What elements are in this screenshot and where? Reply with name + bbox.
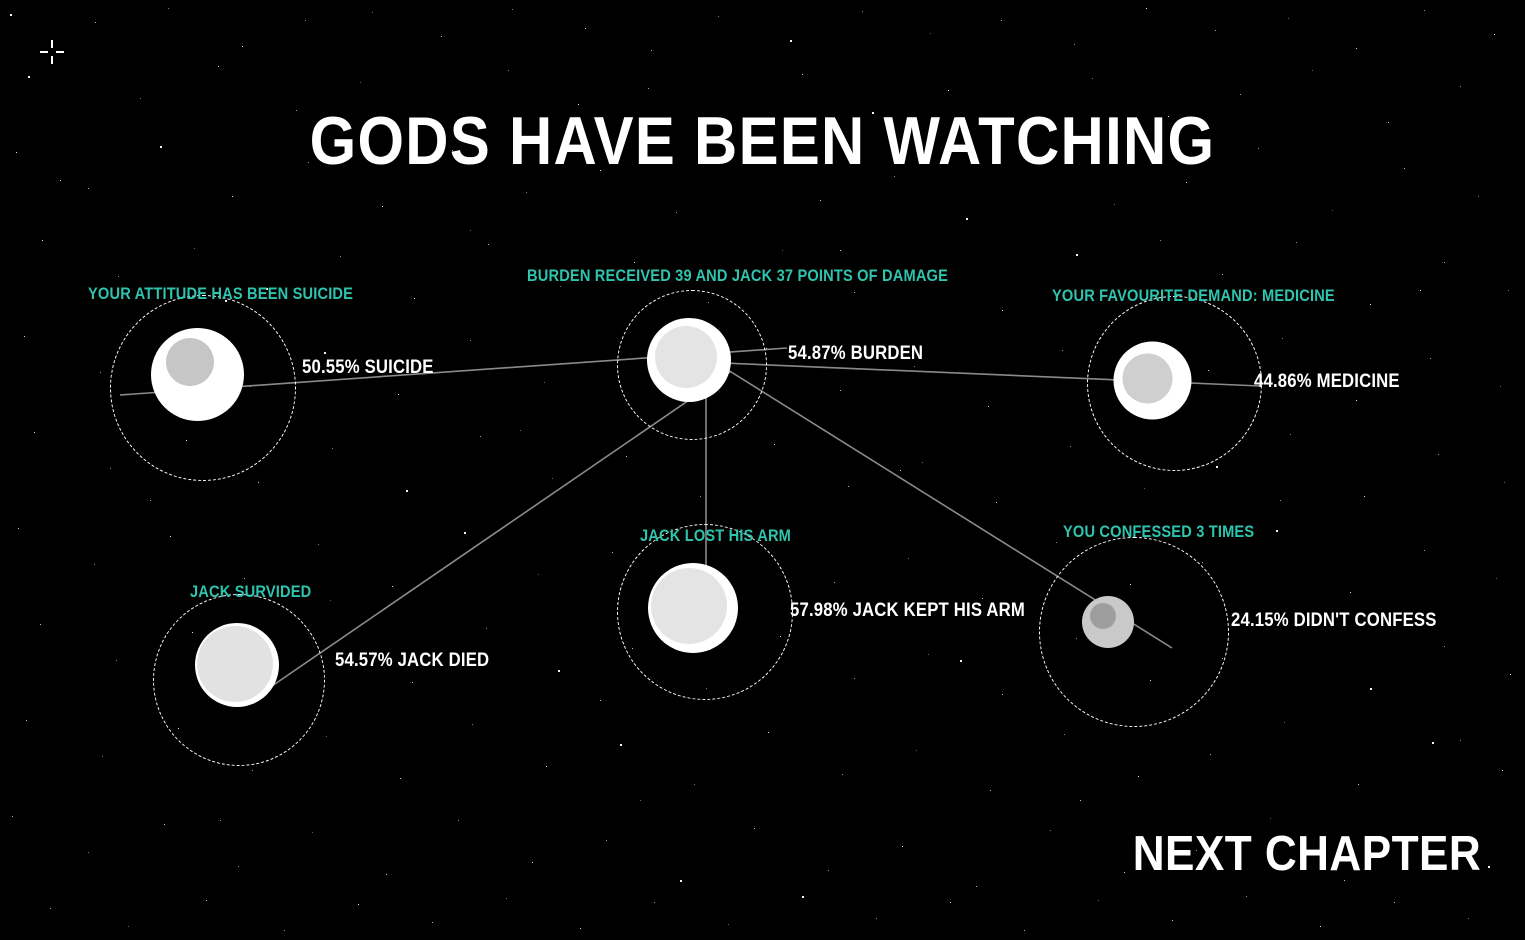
star (848, 486, 849, 487)
star (488, 244, 489, 245)
star (1276, 530, 1278, 532)
star (996, 502, 997, 503)
star (1312, 70, 1313, 71)
star (1508, 290, 1509, 291)
planet-core-jack-arm (651, 568, 727, 644)
node-stat-burden: 54.87% BURDEN (788, 343, 923, 365)
star (676, 212, 677, 213)
star (718, 16, 719, 17)
star (1460, 740, 1461, 741)
star (1370, 688, 1372, 690)
node-title-jack-survived: JACK SURVIDED (190, 582, 311, 602)
star (128, 926, 129, 927)
star (94, 564, 95, 565)
star (834, 582, 835, 583)
star (392, 586, 393, 587)
star (140, 98, 141, 99)
star (1288, 18, 1289, 19)
star (768, 732, 769, 733)
planet-core-medicine (1122, 353, 1172, 403)
star (472, 724, 473, 725)
star (560, 286, 561, 287)
star (914, 366, 915, 367)
star (990, 790, 991, 791)
star (1424, 10, 1425, 11)
node-stat-jack-arm: 57.98% JACK KEPT HIS ARM (790, 600, 1025, 622)
star (102, 756, 103, 757)
star (118, 276, 119, 277)
planet-body-suicide (151, 328, 244, 421)
star (828, 870, 829, 871)
star (1280, 500, 1281, 501)
star (842, 774, 843, 775)
star (1496, 578, 1497, 579)
star (312, 832, 313, 833)
node-stat-medicine: 44.86% MEDICINE (1254, 371, 1400, 393)
star (1270, 818, 1271, 819)
star (966, 218, 968, 220)
star (1364, 496, 1365, 497)
star (1160, 240, 1161, 241)
star (1468, 918, 1469, 919)
node-stat-suicide: 50.55% SUICIDE (302, 357, 434, 379)
star (1064, 734, 1065, 735)
star (1444, 262, 1445, 263)
node-title-medicine: YOUR FAVOURITE DEMAND: MEDICINE (1052, 286, 1335, 306)
star (1186, 182, 1187, 183)
star (406, 490, 408, 492)
star (100, 372, 101, 373)
star (948, 90, 949, 91)
star (546, 766, 547, 767)
star (360, 82, 361, 83)
star (458, 820, 459, 821)
crosshair-bottom-tick (51, 56, 53, 64)
star (206, 900, 207, 901)
star (902, 846, 903, 847)
star (1356, 48, 1357, 49)
star (1080, 800, 1081, 801)
star (774, 444, 775, 445)
star (24, 336, 25, 337)
star (400, 778, 401, 779)
planet-body-burden (647, 318, 731, 402)
crosshair-left-tick (40, 51, 48, 53)
planet-core-confess (1090, 603, 1116, 629)
star (1124, 872, 1125, 873)
star (1076, 254, 1078, 256)
star (1444, 646, 1445, 647)
star (520, 430, 521, 431)
orbit-ring-confess (1039, 537, 1229, 727)
planet-body-jack-arm (648, 563, 738, 653)
node-stat-confess: 24.15% DIDN'T CONFESS (1231, 610, 1437, 632)
star (1240, 94, 1241, 95)
star (1502, 770, 1503, 771)
crosshair-right-tick (56, 51, 64, 53)
star (930, 33, 931, 34)
page-title: GODS HAVE BEEN WATCHING (92, 104, 1434, 178)
planet-node-confess[interactable] (1039, 537, 1229, 727)
planet-body-medicine (1113, 341, 1191, 419)
planet-node-burden[interactable] (617, 290, 767, 440)
star (916, 750, 917, 751)
star (305, 20, 306, 21)
star (840, 250, 841, 251)
star (1438, 454, 1439, 455)
star (1460, 86, 1461, 87)
star (654, 902, 655, 903)
star (284, 930, 285, 931)
star (600, 700, 601, 701)
star (900, 470, 901, 471)
star (982, 598, 983, 599)
planet-node-medicine[interactable] (1087, 296, 1262, 471)
star (170, 536, 171, 537)
star (612, 552, 613, 553)
star (648, 88, 649, 89)
star (1500, 386, 1501, 387)
star (1246, 896, 1247, 897)
star (340, 256, 341, 257)
star (634, 262, 635, 263)
planet-node-jack-arm[interactable] (617, 524, 793, 700)
star (1146, 8, 1147, 9)
star (244, 578, 245, 579)
star (606, 840, 607, 841)
planet-node-suicide[interactable] (110, 295, 296, 481)
star (470, 340, 471, 341)
star (50, 908, 51, 909)
planet-node-jack-survived[interactable] (153, 594, 325, 766)
star (238, 866, 239, 867)
star (754, 828, 755, 829)
star (840, 390, 841, 391)
star (12, 816, 13, 817)
star (338, 640, 339, 641)
star (332, 448, 333, 449)
star (60, 180, 61, 181)
star (1002, 694, 1003, 695)
star (854, 678, 855, 679)
star (1282, 338, 1283, 339)
star (558, 670, 560, 672)
star (26, 720, 27, 721)
star (1098, 900, 1099, 901)
star (1070, 446, 1071, 447)
star (960, 660, 962, 662)
star (95, 22, 96, 23)
star (470, 230, 471, 231)
star (1074, 44, 1075, 45)
star (544, 382, 545, 383)
star (326, 736, 327, 737)
star (16, 152, 17, 153)
star (330, 600, 331, 601)
star (412, 682, 413, 683)
star (1494, 34, 1495, 35)
planet-core-suicide (166, 338, 214, 386)
star (1062, 350, 1063, 351)
star (802, 74, 803, 75)
star (88, 852, 89, 853)
star (538, 574, 539, 575)
star (526, 192, 527, 193)
star (680, 880, 682, 882)
star (1350, 592, 1351, 593)
star (1114, 204, 1115, 205)
star (164, 824, 165, 825)
star (1092, 78, 1093, 79)
star (1358, 784, 1359, 785)
star (908, 558, 909, 559)
star (820, 200, 821, 201)
crosshair-top-tick (51, 40, 53, 48)
star (1356, 400, 1357, 401)
star (1001, 20, 1002, 21)
star (18, 528, 19, 529)
star (950, 902, 951, 903)
star (1420, 290, 1421, 291)
star (1172, 920, 1173, 921)
node-title-suicide: YOUR ATTITUDE HAS BEEN SUICIDE (88, 284, 353, 304)
star (28, 76, 30, 78)
star (480, 436, 481, 437)
star (651, 50, 652, 51)
star (1488, 866, 1490, 868)
star (40, 624, 41, 625)
star (506, 898, 507, 899)
star (585, 28, 586, 29)
star (976, 886, 977, 887)
star (432, 922, 433, 923)
star (88, 188, 89, 189)
star (552, 478, 553, 479)
star (508, 70, 509, 71)
star (802, 896, 804, 898)
star (1394, 902, 1395, 903)
star (782, 250, 783, 251)
star (398, 394, 399, 395)
star (1432, 742, 1434, 744)
star (168, 8, 169, 9)
star (1024, 930, 1025, 931)
star (700, 496, 701, 497)
star (862, 11, 863, 12)
star (464, 532, 466, 534)
star (928, 654, 929, 655)
node-title-burden: BURDEN RECEIVED 39 AND JACK 37 POINTS OF… (527, 266, 948, 286)
statistics-screen: YOUR ATTITUDE HAS BEEN SUICIDE50.55% SUI… (0, 0, 1525, 940)
star (358, 904, 359, 905)
crosshair-cursor (39, 39, 65, 65)
star (372, 12, 373, 13)
planet-body-confess (1082, 596, 1134, 648)
planet-core-jack-survived (197, 626, 273, 702)
star (1050, 830, 1051, 831)
star (1504, 482, 1505, 483)
star (1002, 310, 1003, 311)
star (532, 862, 533, 863)
star (1510, 674, 1511, 675)
star (1138, 776, 1139, 777)
star (922, 462, 923, 463)
planet-body-jack-survived (195, 623, 279, 707)
star (1478, 196, 1479, 197)
planet-core-burden (655, 326, 717, 388)
node-title-jack-arm: JACK LOST HIS ARM (640, 526, 791, 546)
star (988, 406, 989, 407)
star (150, 500, 151, 501)
star (258, 482, 259, 483)
star (232, 196, 233, 197)
star (1424, 550, 1425, 551)
star (324, 352, 326, 354)
star (34, 432, 35, 433)
star (1290, 434, 1291, 435)
star (1296, 242, 1297, 243)
star (386, 874, 387, 875)
star (220, 820, 221, 821)
star (242, 46, 243, 47)
star (790, 40, 792, 42)
star (116, 660, 117, 661)
star (626, 456, 627, 457)
star (318, 544, 319, 545)
star (1284, 722, 1285, 723)
star (194, 248, 195, 249)
star (854, 292, 855, 293)
star (1430, 358, 1431, 359)
star (414, 298, 415, 299)
node-title-confess: YOU CONFESSED 3 TIMES (1063, 522, 1254, 542)
star (620, 744, 622, 746)
star (580, 928, 581, 929)
star (486, 628, 487, 629)
star (1370, 304, 1371, 305)
star (1144, 488, 1145, 489)
star (640, 800, 641, 801)
star (1222, 274, 1223, 275)
star (1215, 30, 1216, 31)
star (728, 924, 729, 925)
star (512, 9, 513, 10)
star (441, 36, 442, 37)
star (218, 66, 219, 67)
star (252, 770, 253, 771)
star (876, 918, 877, 919)
star (10, 14, 12, 16)
star (694, 784, 695, 785)
star (42, 240, 43, 241)
star (382, 206, 383, 207)
star (1210, 754, 1211, 755)
node-stat-jack-survived: 54.57% JACK DIED (335, 650, 489, 672)
star (1332, 210, 1333, 211)
next-chapter-button[interactable]: NEXT CHAPTER (1133, 827, 1481, 881)
star (1320, 926, 1321, 927)
